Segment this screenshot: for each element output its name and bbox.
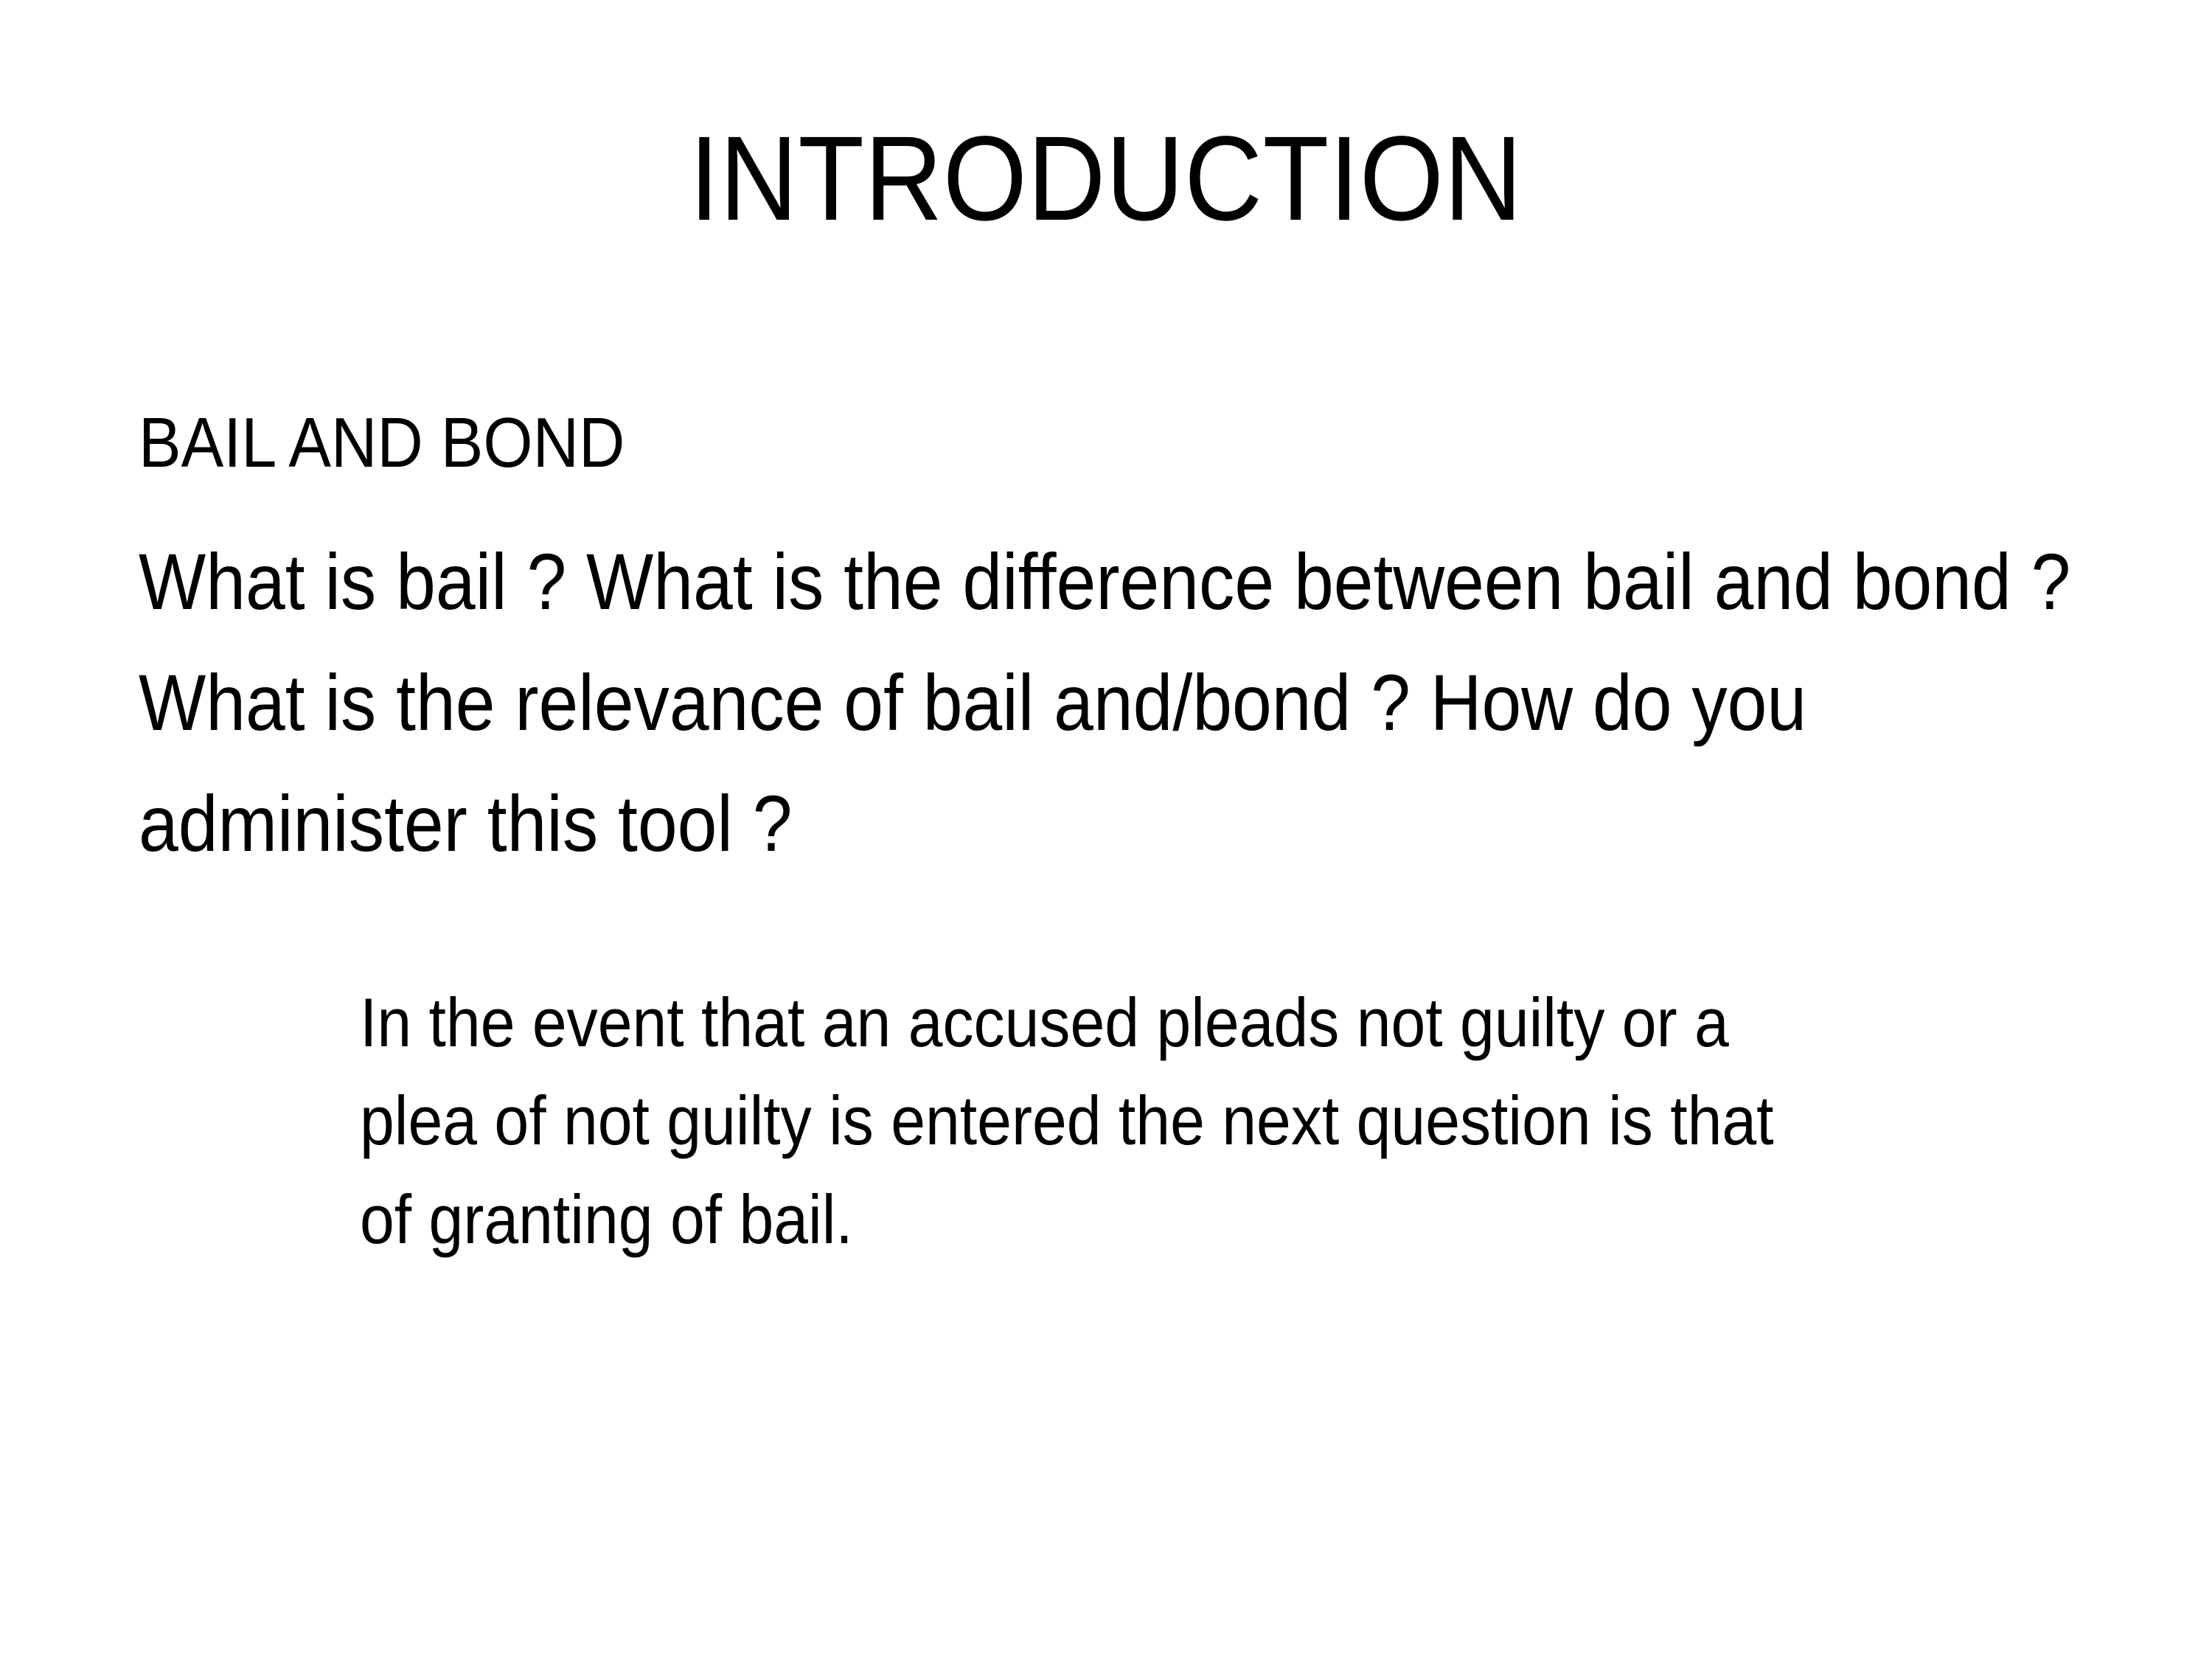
slide-body-content: BAIL AND BOND What is bail ? What is the… [139, 398, 2085, 884]
body-paragraph-text: What is bail ? What is the difference be… [139, 521, 2125, 884]
sub-paragraph: In the event that an accused pleads not … [360, 973, 1834, 1268]
body-paragraph: What is bail ? What is the difference be… [139, 521, 2129, 884]
presentation-slide: INTRODUCTION BAIL AND BOND What is bail … [0, 0, 2212, 1659]
body-heading-text: BAIL AND BOND [139, 398, 625, 489]
page-title-text: INTRODUCTION [689, 118, 1523, 238]
slide-sub-content: In the event that an accused pleads not … [360, 973, 1834, 1268]
sub-paragraph-text: In the event that an accused pleads not … [360, 973, 1832, 1268]
page-title: INTRODUCTION [0, 118, 2212, 238]
body-heading: BAIL AND BOND [139, 398, 2085, 489]
